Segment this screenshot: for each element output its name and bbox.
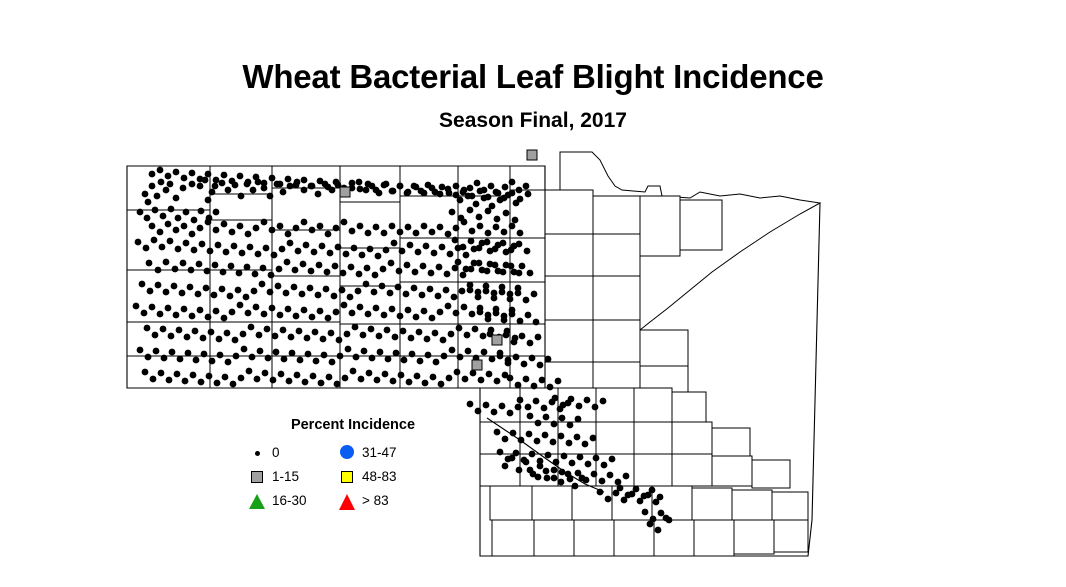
- data-point: [358, 376, 365, 383]
- data-point: [543, 414, 550, 421]
- data-point: [572, 483, 579, 490]
- data-point: [421, 190, 428, 197]
- data-point: [253, 304, 260, 311]
- data-point: [236, 270, 243, 277]
- data-point: [460, 244, 467, 251]
- data-point: [285, 231, 292, 238]
- data-point: [229, 178, 236, 185]
- data-point: [463, 266, 470, 273]
- data-point: [525, 191, 532, 198]
- data-point: [301, 177, 308, 184]
- data-point: [451, 294, 458, 301]
- data-point: [647, 521, 654, 528]
- data-point: [440, 337, 447, 344]
- data-point: [185, 350, 192, 357]
- data-point: [552, 395, 559, 402]
- data-point: [436, 264, 443, 271]
- data-point: [288, 334, 295, 341]
- data-point: [519, 263, 526, 270]
- data-point: [235, 287, 242, 294]
- data-point: [492, 335, 502, 345]
- data-point: [339, 287, 346, 294]
- data-point: [429, 315, 436, 322]
- data-point: [143, 245, 150, 252]
- data-point: [491, 409, 498, 416]
- data-point: [503, 210, 510, 217]
- data-point: [181, 175, 188, 182]
- data-point: [200, 335, 207, 342]
- data-point: [470, 370, 477, 377]
- data-point: [438, 381, 445, 388]
- data-point: [649, 487, 656, 494]
- data-point: [137, 209, 144, 216]
- data-point: [501, 195, 508, 202]
- data-point: [365, 230, 372, 237]
- data-point: [145, 199, 152, 206]
- data-point: [167, 181, 174, 188]
- data-point: [279, 246, 286, 253]
- data-point: [534, 438, 541, 445]
- data-point: [521, 361, 528, 368]
- data-point: [276, 266, 283, 273]
- data-point: [445, 303, 452, 310]
- data-point: [623, 473, 630, 480]
- data-point: [500, 240, 507, 247]
- data-point: [157, 229, 164, 236]
- data-point: [515, 382, 522, 389]
- data-point: [252, 271, 259, 278]
- data-point: [420, 263, 427, 270]
- data-point: [278, 371, 285, 378]
- data-point: [153, 348, 160, 355]
- data-point: [207, 248, 214, 255]
- data-point: [467, 287, 474, 294]
- data-point: [465, 348, 472, 355]
- data-point: [157, 311, 164, 318]
- data-point: [463, 252, 470, 259]
- data-point: [167, 238, 174, 245]
- data-point: [299, 291, 306, 298]
- data-point: [551, 421, 558, 428]
- data-point: [625, 492, 632, 499]
- data-point: [155, 282, 162, 289]
- data-point: [212, 262, 219, 269]
- data-point: [381, 230, 388, 237]
- data-point: [211, 292, 218, 299]
- data-point: [293, 182, 300, 189]
- data-point: [273, 349, 280, 356]
- data-point: [137, 347, 144, 354]
- data-point: [342, 375, 349, 382]
- data-point: [142, 191, 149, 198]
- data-point: [149, 183, 156, 190]
- data-point: [537, 362, 544, 369]
- data-point: [454, 369, 461, 376]
- data-point: [363, 281, 370, 288]
- data-point: [318, 380, 325, 387]
- data-point: [139, 281, 146, 288]
- yellow-square-icon: [338, 466, 360, 488]
- data-point: [232, 337, 239, 344]
- data-point: [261, 311, 268, 318]
- data-point: [187, 284, 194, 291]
- data-point: [359, 252, 366, 259]
- data-point: [507, 296, 514, 303]
- data-point: [349, 228, 356, 235]
- data-point: [493, 310, 500, 317]
- data-point: [221, 172, 228, 179]
- data-point: [397, 313, 404, 320]
- data-point: [269, 175, 276, 182]
- data-point: [176, 327, 183, 334]
- data-point: [357, 186, 364, 193]
- data-point: [213, 227, 220, 234]
- data-point: [355, 288, 362, 295]
- data-point: [360, 332, 367, 339]
- data-point: [205, 197, 212, 204]
- data-point: [315, 292, 322, 299]
- data-point: [280, 327, 287, 334]
- data-point: [350, 368, 357, 375]
- data-point: [209, 358, 216, 365]
- data-point: [590, 435, 597, 442]
- data-point: [253, 225, 260, 232]
- data-point: [413, 314, 420, 321]
- data-point: [477, 309, 484, 316]
- data-point: [542, 432, 549, 439]
- data-point: [484, 239, 491, 246]
- data-point: [531, 291, 538, 298]
- data-point: [238, 375, 245, 382]
- data-point: [399, 248, 406, 255]
- data-point: [245, 179, 252, 186]
- data-point: [181, 306, 188, 313]
- legend-label-4: 48-83: [362, 469, 397, 485]
- data-point: [523, 459, 530, 466]
- data-point: [510, 430, 517, 437]
- data-point: [431, 250, 438, 257]
- data-point: [411, 285, 418, 292]
- data-point: [199, 241, 206, 248]
- data-point: [157, 167, 164, 174]
- data-point: [527, 340, 534, 347]
- data-point: [494, 216, 501, 223]
- data-point: [366, 370, 373, 377]
- data-point: [158, 179, 165, 186]
- data-point: [468, 238, 475, 245]
- data-point: [356, 271, 363, 278]
- data-point: [243, 294, 250, 301]
- data-point: [472, 360, 482, 370]
- data-point: [289, 350, 296, 357]
- data-point: [512, 217, 519, 224]
- data-point: [315, 191, 322, 198]
- data-point: [469, 228, 476, 235]
- data-point: [152, 332, 159, 339]
- data-point: [159, 244, 166, 251]
- data-point: [149, 304, 156, 311]
- data-point: [502, 184, 509, 191]
- data-point: [160, 326, 167, 333]
- data-point: [361, 348, 368, 355]
- data-point: [272, 333, 279, 340]
- data-point: [264, 326, 271, 333]
- data-point: [203, 285, 210, 292]
- data-point: [367, 246, 374, 253]
- data-point: [516, 241, 523, 248]
- data-point: [352, 324, 359, 331]
- data-point: [365, 311, 372, 318]
- data-point: [181, 223, 188, 230]
- data-point: [555, 378, 562, 385]
- data-point: [558, 433, 565, 440]
- data-point: [192, 328, 199, 335]
- data-point: [364, 265, 371, 272]
- data-point: [389, 223, 396, 230]
- data-point: [228, 263, 235, 270]
- data-point: [478, 377, 485, 384]
- data-point: [376, 333, 383, 340]
- data-point: [642, 509, 649, 516]
- data-point: [348, 264, 355, 271]
- data-point: [379, 283, 386, 290]
- data-point: [179, 290, 186, 297]
- data-point: [488, 183, 495, 190]
- data-point: [477, 223, 484, 230]
- data-point: [429, 229, 436, 236]
- data-point: [433, 359, 440, 366]
- data-point: [351, 245, 358, 252]
- data-point: [224, 330, 231, 337]
- data-point: [245, 310, 252, 317]
- data-point: [149, 223, 156, 230]
- data-point: [461, 187, 468, 194]
- data-point: [591, 471, 598, 478]
- data-point: [472, 326, 479, 333]
- data-point: [297, 357, 304, 364]
- data-point: [277, 223, 284, 230]
- data-point: [576, 403, 583, 410]
- data-point: [475, 294, 482, 301]
- data-point: [405, 307, 412, 314]
- data-point: [568, 396, 575, 403]
- data-point: [341, 302, 348, 309]
- data-point: [308, 268, 315, 275]
- data-point: [601, 462, 608, 469]
- data-point: [527, 150, 537, 160]
- data-point: [189, 313, 196, 320]
- data-point: [225, 359, 232, 366]
- data-point: [551, 475, 558, 482]
- data-point: [285, 176, 292, 183]
- data-point: [357, 304, 364, 311]
- data-point: [516, 187, 523, 194]
- data-point: [329, 359, 336, 366]
- legend-label-2: 16-30: [272, 493, 307, 509]
- data-point: [401, 357, 408, 364]
- data-point: [459, 288, 466, 295]
- data-point: [225, 187, 232, 194]
- data-point: [180, 185, 187, 192]
- data-point: [495, 268, 502, 275]
- data-point: [319, 243, 326, 250]
- data-point: [205, 171, 212, 178]
- data-point: [582, 441, 589, 448]
- data-point: [477, 188, 484, 195]
- data-point: [430, 374, 437, 381]
- data-point: [491, 295, 498, 302]
- data-point: [421, 308, 428, 315]
- data-point: [383, 247, 390, 254]
- data-point: [446, 375, 453, 382]
- data-point: [285, 306, 292, 313]
- data-point: [309, 183, 316, 190]
- data-point: [317, 223, 324, 230]
- data-point: [287, 240, 294, 247]
- data-point: [190, 372, 197, 379]
- data-point: [535, 420, 542, 427]
- data-point: [567, 422, 574, 429]
- data-point: [237, 223, 244, 230]
- data-point: [265, 355, 272, 362]
- data-point: [229, 229, 236, 236]
- data-point: [219, 180, 226, 187]
- data-point: [284, 259, 291, 266]
- data-point: [341, 219, 348, 226]
- data-point: [254, 376, 261, 383]
- data-point: [499, 289, 506, 296]
- data-point: [241, 346, 248, 353]
- data-point: [219, 286, 226, 293]
- data-point: [485, 230, 492, 237]
- data-point: [269, 305, 276, 312]
- data-point: [221, 315, 228, 322]
- data-point: [216, 336, 223, 343]
- data-point: [312, 329, 319, 336]
- data-point: [559, 415, 566, 422]
- data-point: [150, 376, 157, 383]
- data-point: [356, 179, 363, 186]
- data-point: [260, 265, 267, 272]
- data-point: [371, 289, 378, 296]
- data-point: [461, 304, 468, 311]
- data-point: [584, 397, 591, 404]
- data-point: [296, 328, 303, 335]
- data-point: [305, 351, 312, 358]
- data-point: [453, 310, 460, 317]
- data-point: [452, 265, 459, 272]
- data-point: [533, 319, 540, 326]
- data-point: [527, 270, 534, 277]
- legend-label-3: 31-47: [362, 445, 397, 461]
- data-point: [487, 261, 494, 268]
- data-point: [269, 227, 276, 234]
- data-point: [238, 193, 245, 200]
- data-point: [462, 376, 469, 383]
- data-point: [271, 252, 278, 259]
- data-point: [204, 268, 211, 275]
- data-point: [291, 284, 298, 291]
- data-point: [205, 219, 212, 226]
- data-point: [476, 245, 483, 252]
- data-point: [372, 272, 379, 279]
- black-dot-icon: [248, 442, 270, 464]
- data-point: [277, 312, 284, 319]
- data-point: [237, 302, 244, 309]
- data-point: [213, 209, 220, 216]
- data-point: [464, 332, 471, 339]
- data-point: [154, 193, 161, 200]
- data-point: [530, 471, 537, 478]
- data-point: [579, 475, 586, 482]
- data-point: [280, 189, 287, 196]
- data-point: [398, 372, 405, 379]
- data-point: [374, 377, 381, 384]
- data-point: [419, 292, 426, 299]
- data-point: [334, 381, 341, 388]
- data-point: [543, 468, 550, 475]
- data-point: [327, 250, 334, 257]
- data-point: [467, 207, 474, 214]
- data-point: [166, 377, 173, 384]
- data-point: [357, 223, 364, 230]
- data-point: [480, 333, 487, 340]
- red-triangle-icon: [338, 490, 360, 512]
- data-point: [485, 208, 492, 215]
- data-point: [142, 369, 149, 376]
- data-point: [250, 187, 257, 194]
- data-point: [259, 281, 266, 288]
- data-point: [413, 184, 420, 191]
- gray-square-icon: [248, 466, 270, 488]
- data-point: [449, 347, 456, 354]
- legend-label-0: 0: [272, 445, 280, 461]
- data-point: [311, 249, 318, 256]
- data-point: [169, 349, 176, 356]
- data-point: [222, 374, 229, 381]
- data-point: [182, 378, 189, 385]
- data-point: [237, 173, 244, 180]
- data-point: [519, 333, 526, 340]
- data-point: [283, 290, 290, 297]
- data-point: [365, 181, 372, 188]
- blue-circle-icon: [338, 442, 360, 464]
- data-point: [277, 181, 284, 188]
- data-point: [617, 485, 624, 492]
- data-point: [257, 348, 264, 355]
- incidence-map: [0, 0, 1066, 587]
- data-point: [565, 471, 572, 478]
- data-point: [300, 261, 307, 268]
- data-point: [641, 493, 648, 500]
- data-point: [161, 355, 168, 362]
- data-point: [256, 332, 263, 339]
- data-point: [369, 355, 376, 362]
- data-point: [180, 260, 187, 267]
- data-point: [458, 215, 465, 222]
- data-point: [363, 187, 370, 194]
- data-point: [198, 379, 205, 386]
- data-point: [566, 440, 573, 447]
- data-point: [183, 209, 190, 216]
- data-point: [325, 315, 332, 322]
- data-point: [231, 243, 238, 250]
- data-point: [467, 185, 474, 192]
- data-point: [160, 213, 167, 220]
- data-point: [523, 183, 530, 190]
- data-point: [331, 293, 338, 300]
- data-point: [189, 170, 196, 177]
